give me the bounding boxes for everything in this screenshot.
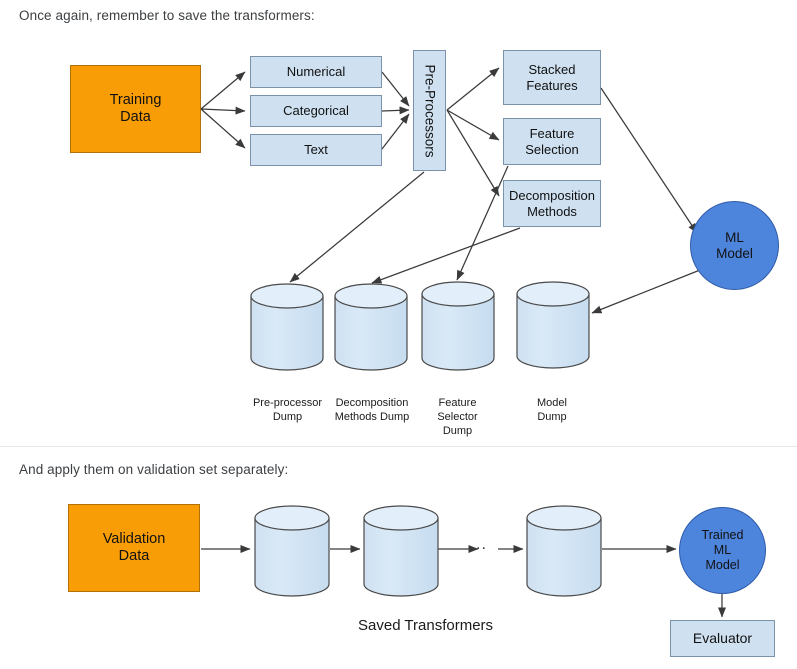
node-text[interactable]: Text	[250, 134, 382, 166]
cylinder-saved-transformer-1[interactable]	[254, 505, 330, 597]
ml-model-line1: ML	[716, 230, 753, 246]
cylinder-saved-transformer-3[interactable]	[526, 505, 602, 597]
cylinder-model-dump[interactable]	[516, 281, 590, 369]
cylinder-decomposition-methods-dump[interactable]	[334, 283, 408, 371]
node-pre-processors[interactable]: Pre-Processors	[413, 50, 446, 171]
node-categorical-label: Categorical	[283, 103, 349, 118]
label-decomposition-methods-dump: Decomposition Methods Dump	[322, 396, 422, 424]
ml-model-line2: Model	[716, 246, 753, 262]
trained-ml-model-line2: ML	[702, 543, 744, 558]
feature-selection-line2: Selection	[525, 142, 578, 157]
decomposition-methods-line1: Decomposition	[509, 188, 595, 203]
label-feature-selector-dump: Feature Selector Dump	[415, 396, 500, 438]
node-trained-ml-model[interactable]: Trained ML Model	[679, 507, 766, 594]
caption-top: Once again, remember to save the transfo…	[19, 8, 315, 23]
node-text-label: Text	[304, 142, 328, 157]
stacked-features-line2: Features	[526, 78, 577, 93]
node-training-data[interactable]: Training Data	[70, 65, 201, 153]
pre-processors-rotated-label: Pre-Processors	[414, 51, 445, 170]
cylinder-saved-transformer-2[interactable]	[363, 505, 439, 597]
pre-processors-label: Pre-Processors	[422, 64, 438, 157]
node-ml-model[interactable]: ML Model	[690, 201, 779, 290]
ellipsis-more-transformers: ..	[476, 536, 487, 554]
node-validation-data[interactable]: Validation Data	[68, 504, 200, 592]
trained-ml-model-line3: Model	[702, 558, 744, 573]
section-divider	[0, 446, 797, 447]
node-decomposition-methods[interactable]: Decomposition Methods	[503, 180, 601, 227]
cylinder-feature-selector-dump[interactable]	[421, 281, 495, 371]
validation-data-line1: Validation	[103, 531, 166, 548]
node-feature-selection[interactable]: Feature Selection	[503, 118, 601, 165]
caption-bottom: And apply them on validation set separat…	[19, 462, 288, 477]
evaluator-label: Evaluator	[693, 630, 752, 647]
node-numerical[interactable]: Numerical	[250, 56, 382, 88]
node-numerical-label: Numerical	[287, 64, 346, 79]
training-data-line2: Data	[110, 109, 162, 126]
stacked-features-line1: Stacked	[526, 62, 577, 77]
node-categorical[interactable]: Categorical	[250, 95, 382, 127]
feature-selection-line1: Feature	[525, 126, 578, 141]
validation-data-line2: Data	[103, 548, 166, 565]
label-saved-transformers: Saved Transformers	[358, 617, 493, 634]
training-data-line1: Training	[110, 92, 162, 109]
trained-ml-model-line1: Trained	[702, 528, 744, 543]
decomposition-methods-line2: Methods	[509, 204, 595, 219]
label-pre-processor-dump: Pre-processor Dump	[240, 396, 335, 424]
node-evaluator[interactable]: Evaluator	[670, 620, 775, 657]
node-stacked-features[interactable]: Stacked Features	[503, 50, 601, 105]
label-model-dump: Model Dump	[513, 396, 591, 424]
cylinder-pre-processor-dump[interactable]	[250, 283, 324, 371]
